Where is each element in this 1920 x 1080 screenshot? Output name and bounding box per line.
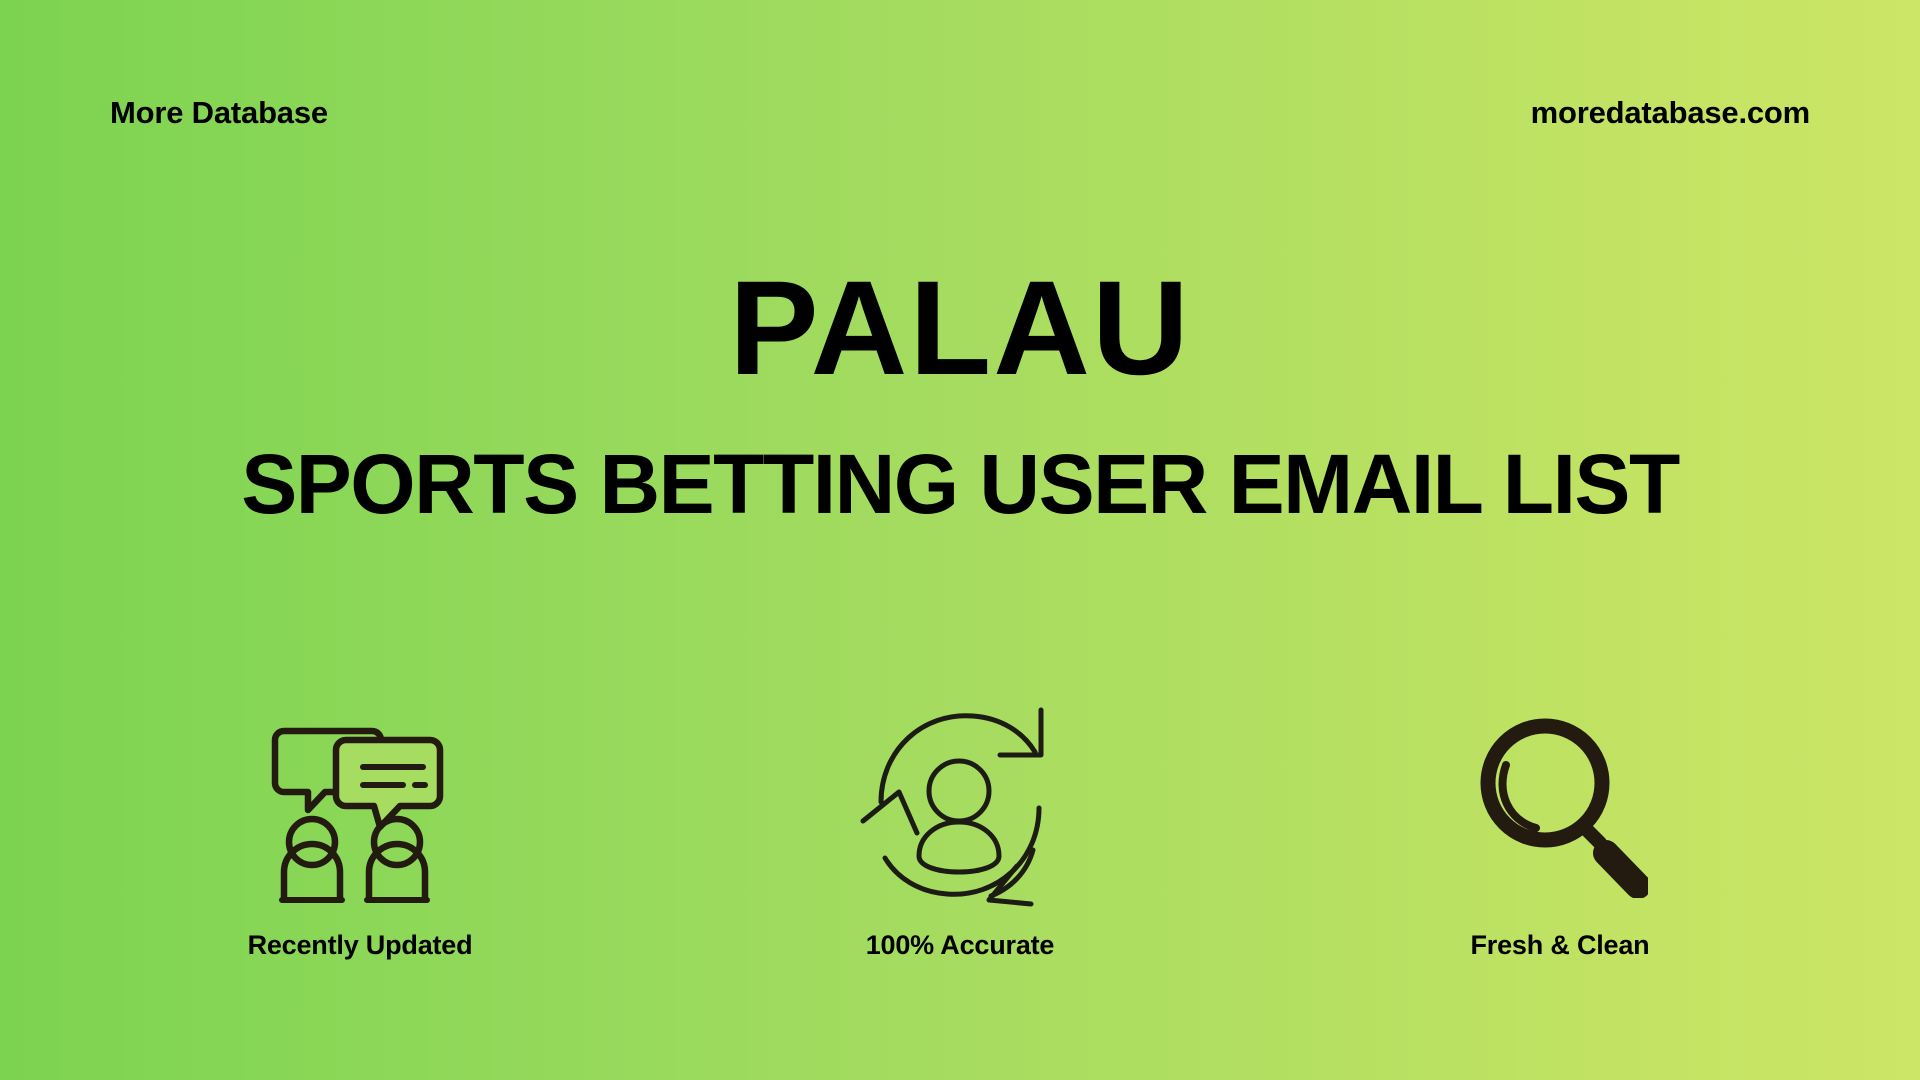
hero-section: PALAU SPORTS BETTING USER EMAIL LIST	[0, 262, 1920, 526]
two-people-chat-bubbles-icon	[269, 700, 451, 910]
page-subtitle: SPORTS BETTING USER EMAIL LIST	[0, 442, 1920, 526]
magnifying-glass-icon	[1472, 700, 1648, 910]
person-refresh-cycle-icon	[855, 700, 1065, 910]
page-title: PALAU	[0, 262, 1920, 396]
feature-label: 100% Accurate	[866, 932, 1055, 959]
site-url: moredatabase.com	[1531, 97, 1810, 128]
feature-label: Fresh & Clean	[1471, 932, 1650, 959]
brand-name: More Database	[110, 97, 328, 128]
feature-row: Recently Updated	[0, 700, 1920, 959]
promo-banner: More Database moredatabase.com PALAU SPO…	[0, 0, 1920, 1080]
feature-item: Recently Updated	[150, 700, 570, 959]
feature-item: Fresh & Clean	[1350, 700, 1770, 959]
feature-item: 100% Accurate	[750, 700, 1170, 959]
banner-header: More Database moredatabase.com	[0, 88, 1920, 136]
feature-label: Recently Updated	[248, 932, 473, 959]
